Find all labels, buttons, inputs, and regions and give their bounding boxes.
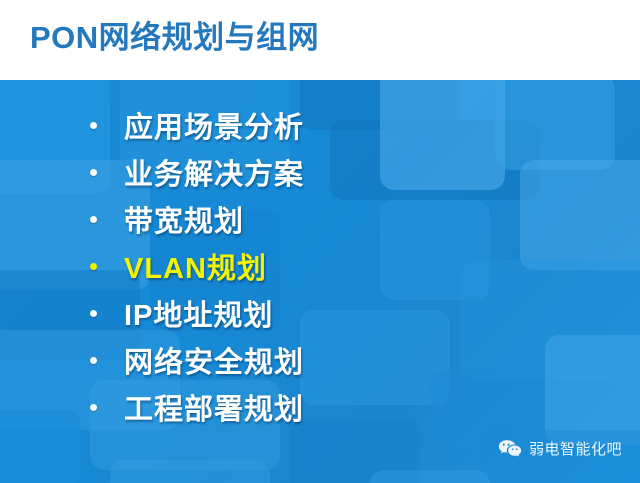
page-title: PON网络规划与组网	[30, 12, 319, 57]
wechat-icon	[498, 439, 522, 459]
watermark-label: 弱电智能化吧	[529, 438, 622, 459]
watermark: 弱电智能化吧	[498, 438, 622, 459]
bullet-icon	[90, 122, 97, 129]
agenda-item-label: 应用场景分析	[124, 104, 304, 146]
agenda-item-label: 工程部署规划	[124, 386, 304, 428]
bullet-icon	[90, 263, 97, 270]
agenda-item-label: IP地址规划	[124, 292, 273, 334]
agenda-item-label: 网络安全规划	[124, 339, 304, 381]
agenda-item-label: 业务解决方案	[124, 151, 304, 193]
agenda-list: 应用场景分析 业务解决方案 带宽规划 VLAN规划 IP地址规划 网络安全规划	[0, 80, 640, 483]
agenda-item-label: VLAN规划	[124, 245, 267, 287]
bullet-icon	[90, 357, 97, 364]
bullet-icon	[90, 216, 97, 223]
agenda-item-3[interactable]: VLAN规划	[90, 246, 267, 286]
agenda-item-label: 带宽规划	[124, 198, 244, 240]
agenda-item-4[interactable]: IP地址规划	[90, 293, 273, 333]
slide-canvas: PON网络规划与组网	[0, 0, 640, 483]
bullet-icon	[90, 310, 97, 317]
agenda-item-1[interactable]: 业务解决方案	[90, 152, 304, 192]
slide-header: PON网络规划与组网	[0, 0, 640, 80]
agenda-item-2[interactable]: 带宽规划	[90, 199, 244, 239]
bullet-icon	[90, 404, 97, 411]
slide-body: 应用场景分析 业务解决方案 带宽规划 VLAN规划 IP地址规划 网络安全规划	[0, 80, 640, 483]
bullet-icon	[90, 169, 97, 176]
agenda-item-6[interactable]: 工程部署规划	[90, 387, 304, 427]
agenda-item-0[interactable]: 应用场景分析	[90, 105, 304, 145]
agenda-item-5[interactable]: 网络安全规划	[90, 340, 304, 380]
